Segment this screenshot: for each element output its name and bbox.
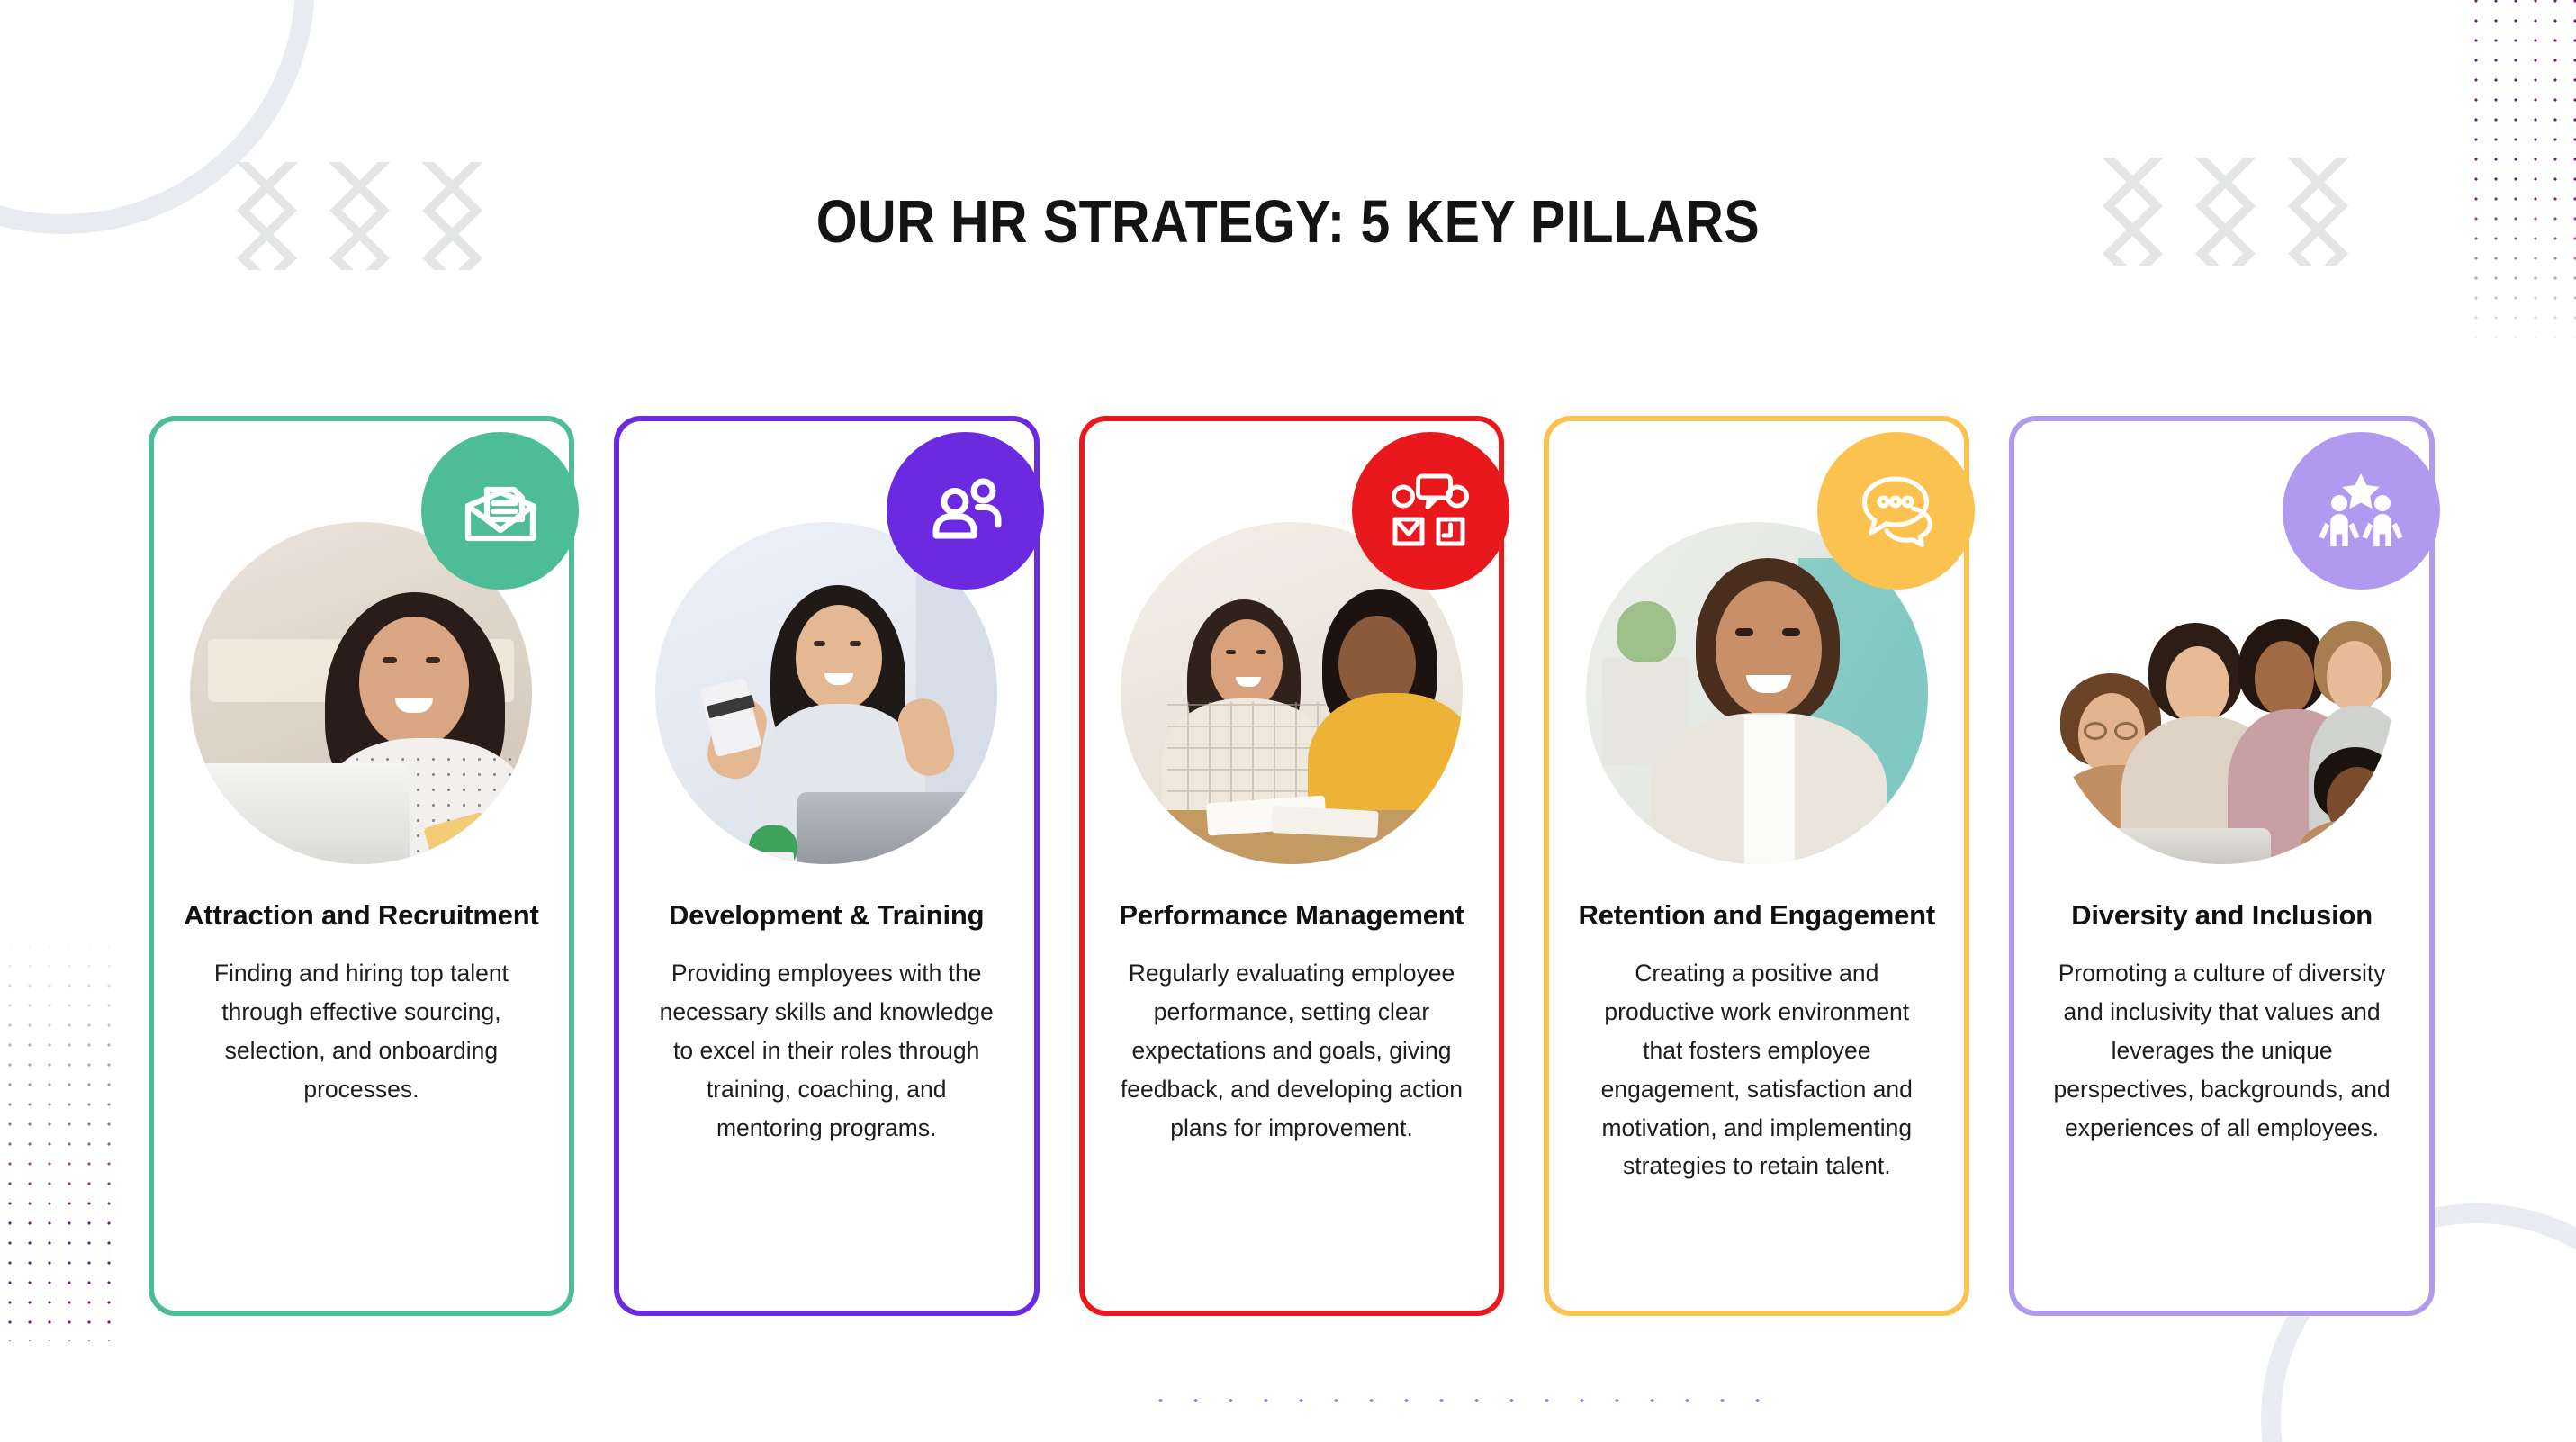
- card-title: Development & Training: [619, 897, 1034, 934]
- card-description: Creating a positive and productive work …: [1549, 954, 1964, 1186]
- card-media: [1586, 522, 1928, 864]
- pillar-card-performance-management[interactable]: Performance Management Regularly evaluat…: [1079, 416, 1505, 1316]
- icon-badge-team-discussion: [1352, 432, 1509, 590]
- card-title: Diversity and Inclusion: [2014, 897, 2429, 934]
- infographic-canvas: OUR HR STRATEGY: 5 KEY PILLARS: [0, 0, 2576, 1442]
- pillar-card-row: Attraction and Recruitment Finding and h…: [149, 416, 2435, 1316]
- card-description: Providing employees with the necessary s…: [619, 954, 1034, 1148]
- card-title: Attraction and Recruitment: [154, 897, 569, 934]
- card-description: Regularly evaluating employee performanc…: [1085, 954, 1500, 1148]
- card-title: Performance Management: [1085, 897, 1500, 934]
- pillar-card-attraction-and-recruitment[interactable]: Attraction and Recruitment Finding and h…: [149, 416, 574, 1316]
- decorative-dot-grid-left: [0, 936, 113, 1341]
- pillar-card-development-and-training[interactable]: Development & Training Providing employe…: [614, 416, 1040, 1316]
- card-title: Retention and Engagement: [1549, 897, 1964, 934]
- page-title: OUR HR STRATEGY: 5 KEY PILLARS: [155, 187, 2422, 257]
- decorative-dot-row-bottom: [1143, 1386, 1773, 1428]
- two-people-icon: [923, 468, 1009, 554]
- pillar-card-diversity-and-inclusion[interactable]: Diversity and Inclusion Promoting a cult…: [2009, 416, 2435, 1316]
- card-description: Promoting a culture of diversity and inc…: [2014, 954, 2429, 1148]
- card-media: [190, 522, 532, 864]
- pillar-card-retention-and-engagement[interactable]: Retention and Engagement Creating a posi…: [1544, 416, 1969, 1316]
- icon-badge-chat-bubbles: [1817, 432, 1975, 590]
- chat-bubbles-icon: [1852, 468, 1939, 554]
- card-media: [1121, 522, 1463, 864]
- card-media: [655, 522, 997, 864]
- card-description: Finding and hiring top talent through ef…: [154, 954, 569, 1109]
- icon-badge-two-people: [887, 432, 1044, 590]
- icon-badge-envelope: [421, 432, 579, 590]
- icon-badge-team-celebration: [2283, 432, 2440, 590]
- team-celebration-star-icon: [2318, 468, 2404, 554]
- decorative-dot-grid-top-right: [2466, 0, 2576, 351]
- team-discussion-speech-bubble-icon: [1387, 468, 1473, 554]
- card-media: [2051, 522, 2393, 864]
- envelope-document-icon: [457, 468, 544, 554]
